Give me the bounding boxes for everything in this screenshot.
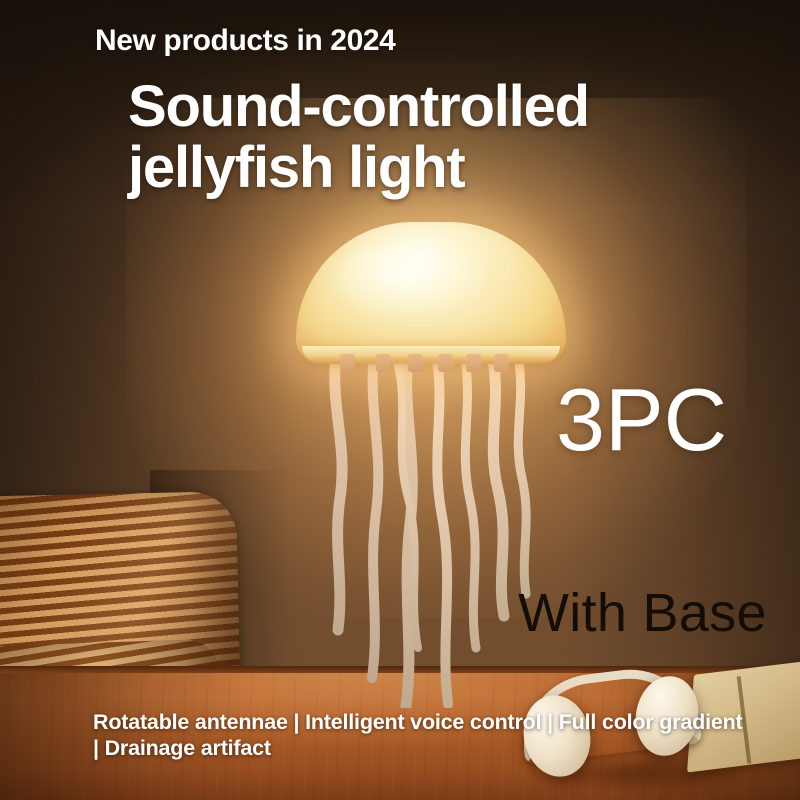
base-badge: With Base (518, 586, 767, 640)
tentacle-stub (340, 354, 355, 372)
feature-list-text: Rotatable antennae | Intelligent voice c… (93, 709, 753, 761)
headline-line-2: jellyfish light (128, 137, 589, 198)
page-title: Sound-controlled jellyfish light (128, 76, 589, 199)
tentacle-stub (438, 354, 453, 372)
tentacle-stub (376, 354, 391, 372)
lamp-dome-shade (296, 222, 566, 364)
eyebrow-text: New products in 2024 (95, 24, 395, 58)
lamp-dome-highlight (336, 242, 486, 316)
quantity-badge: 3PC (556, 376, 727, 464)
headline-line-1: Sound-controlled (128, 76, 589, 137)
tentacle-stub (466, 354, 481, 372)
tentacle-stub (494, 354, 509, 372)
jellyfish-tentacles (296, 348, 566, 708)
tentacle-stub (408, 354, 423, 372)
product-banner-image: New products in 2024 Sound-controlled je… (0, 0, 800, 800)
